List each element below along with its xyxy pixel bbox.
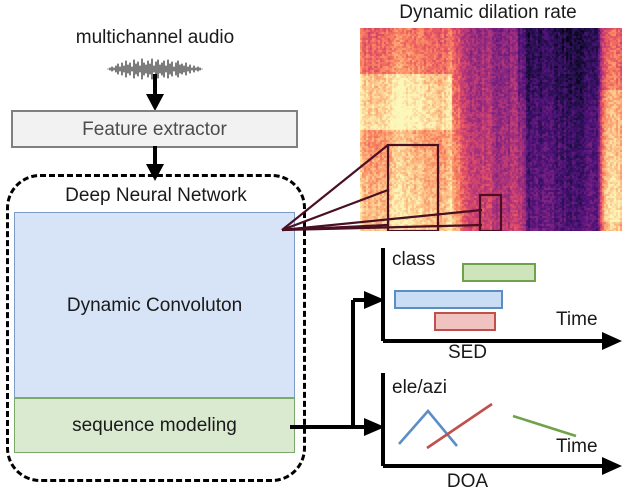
arrow-waveform-to-feature-extractor [140,74,170,112]
figure-canvas: multichannel audio [0,0,626,502]
feature-extractor-label: Feature extractor [82,120,227,139]
doa-caption: DOA [370,472,565,491]
doa-y-axis-label: ele/azi [392,378,447,397]
doa-track-blue [399,411,457,446]
sed-x-axis-label: Time [556,310,598,329]
dynamic-convolution-box[interactable]: Dynamic Convoluton [14,212,295,398]
sed-bar-red [435,313,495,330]
sed-bar-green [463,264,535,281]
doa-x-axis-label: Time [556,437,598,456]
doa-track-green [513,416,576,436]
feature-extractor-box[interactable]: Feature extractor [11,110,298,148]
sequence-modeling-label: sequence modeling [72,416,237,435]
dynamic-convolution-label: Dynamic Convoluton [67,296,242,315]
deep-neural-network-label: Deep Neural Network [6,186,306,205]
sed-y-axis-label: class [392,250,435,269]
sequence-modeling-box[interactable]: sequence modeling [14,398,295,453]
sed-bar-blue [395,291,502,308]
doa-track-red [427,404,492,448]
sed-caption: SED [370,343,565,362]
dilation-pointer-lines [270,140,626,240]
spectrogram-title: Dynamic dilation rate [350,3,626,22]
input-label-multichannel-audio: multichannel audio [0,28,310,47]
